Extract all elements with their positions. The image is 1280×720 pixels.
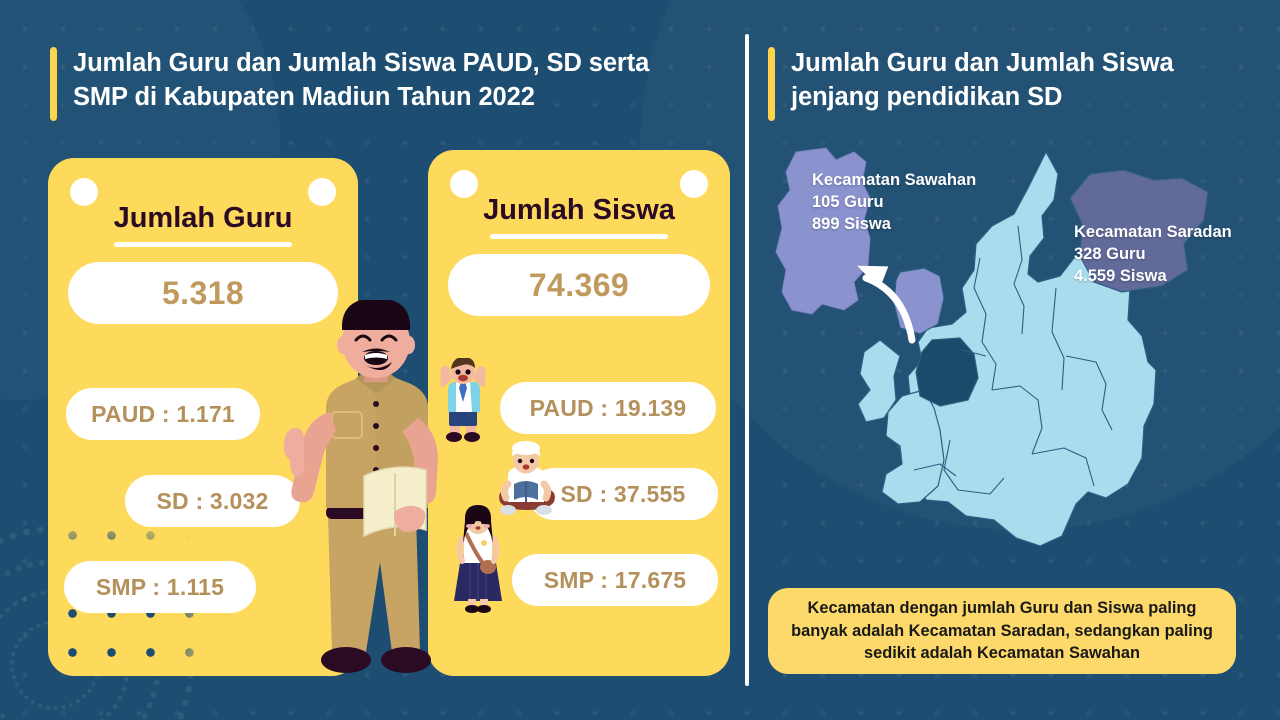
- callout-district-name: Kecamatan Sawahan: [812, 170, 976, 192]
- card-heading: Jumlah Guru: [48, 202, 358, 235]
- card-underline: [490, 234, 668, 239]
- card-underline: [114, 242, 292, 247]
- card-total-value: 74.369: [448, 254, 710, 316]
- stat-row-paud: PAUD : 1.171: [66, 388, 260, 440]
- caption-text: Kecamatan dengan jumlah Guru dan Siswa p…: [782, 597, 1222, 665]
- left-panel-title-text: Jumlah Guru dan Jumlah Siswa PAUD, SD se…: [73, 47, 710, 115]
- callout-teacher-count: 105 Guru: [812, 192, 976, 214]
- left-panel-title: Jumlah Guru dan Jumlah Siswa PAUD, SD se…: [50, 47, 710, 121]
- right-panel-title: Jumlah Guru dan Jumlah Siswa jenjang pen…: [768, 47, 1238, 121]
- card-heading: Jumlah Siswa: [428, 194, 730, 227]
- girl-student-illustration: [448, 505, 508, 615]
- map-callout-sawahan: Kecamatan Sawahan 105 Guru 899 Siswa: [812, 170, 976, 236]
- title-accent-bar: [50, 47, 57, 121]
- map-summary-caption: Kecamatan dengan jumlah Guru dan Siswa p…: [768, 588, 1236, 674]
- boy-student-illustration: [432, 358, 494, 444]
- map-callout-saradan: Kecamatan Saradan 328 Guru 4.559 Siswa: [1074, 222, 1232, 288]
- panel-divider: [745, 34, 749, 686]
- right-panel-title-text: Jumlah Guru dan Jumlah Siswa jenjang pen…: [791, 47, 1238, 115]
- callout-district-name: Kecamatan Saradan: [1074, 222, 1232, 244]
- callout-teacher-count: 328 Guru: [1074, 244, 1232, 266]
- callout-student-count: 899 Siswa: [812, 214, 976, 236]
- stat-row-smp: SMP : 1.115: [64, 561, 256, 613]
- title-accent-bar: [768, 47, 775, 121]
- stat-row-paud: PAUD : 19.139: [500, 382, 716, 434]
- stat-row-smp: SMP : 17.675: [512, 554, 718, 606]
- callout-student-count: 4.559 Siswa: [1074, 266, 1232, 288]
